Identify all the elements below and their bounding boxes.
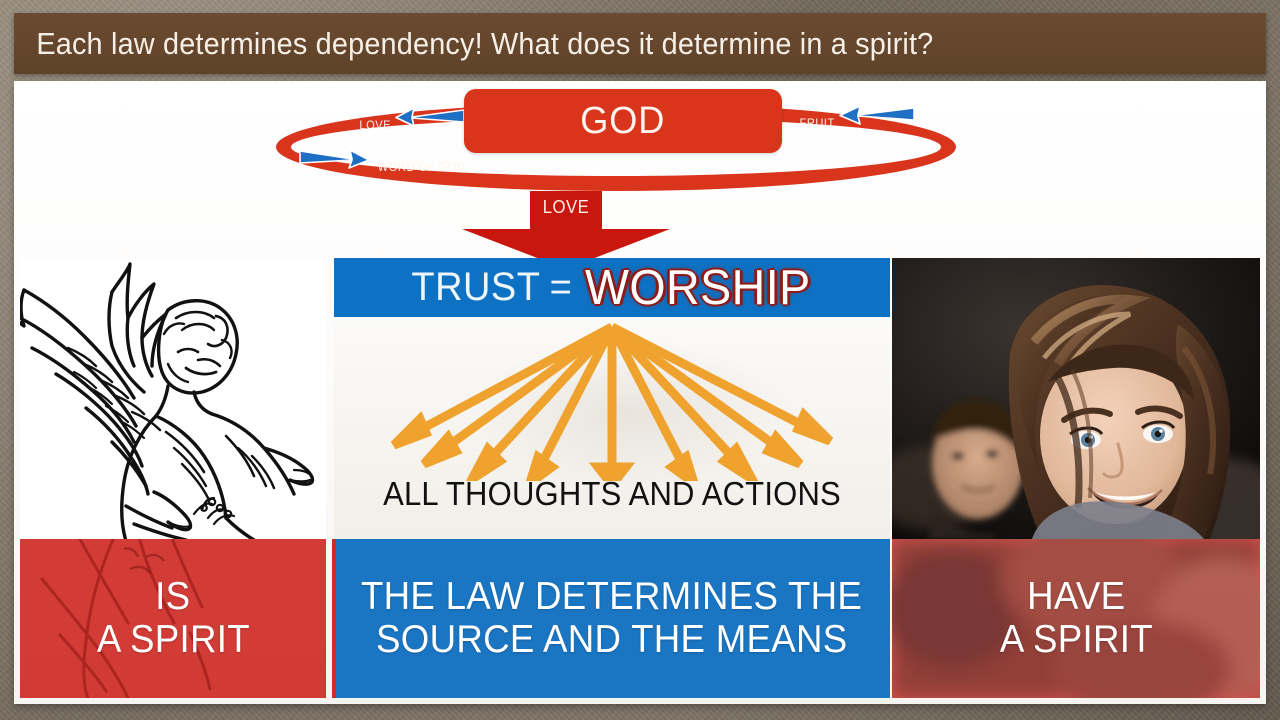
arrow-left-icon-fruit: [836, 103, 916, 127]
angel-line-drawing-icon: [20, 258, 326, 539]
bottom-left-caption: IS A SPIRIT: [20, 539, 326, 698]
arrow-right-icon-word-of-god: [297, 146, 373, 172]
arrow-left-icon-love: [392, 105, 466, 129]
thoughts-actions-label: ALL THOUGHTS AND ACTIONS: [351, 475, 874, 513]
page-title: Each law determines dependency! What doe…: [14, 26, 933, 62]
slide-title-bar: Each law determines dependency! What doe…: [14, 13, 1266, 74]
love-down-arrow-icon: LOVE: [462, 191, 670, 267]
bottom-right-line1: HAVE: [1027, 576, 1125, 618]
photo-panel: [892, 258, 1260, 539]
slide-body: LOVE WORD OF GOD FRUIT GOD LOVE: [14, 81, 1266, 704]
trust-label: TRUST: [411, 265, 540, 310]
slide-canvas: Each law determines dependency! What doe…: [0, 0, 1280, 720]
god-box: GOD: [464, 89, 782, 153]
worship-label: WORSHIP: [585, 260, 811, 316]
god-label: GOD: [580, 100, 665, 143]
god-ring-diagram: LOVE WORD OF GOD FRUIT GOD: [264, 89, 964, 204]
love-arrow-label: LOVE: [469, 197, 662, 218]
smiling-girl-photo-icon: [892, 258, 1260, 539]
column-divider: [332, 539, 336, 698]
ring-label-fruit: FRUIT: [800, 116, 835, 130]
bottom-right-line2: A SPIRIT: [999, 619, 1152, 661]
bottom-middle-caption: THE LAW DETERMINES THE SOURCE AND THE ME…: [334, 539, 890, 698]
ring-label-word-of-god: WORD OF GOD: [378, 160, 466, 174]
bottom-left-line1: IS: [155, 576, 190, 618]
angel-image-panel: [20, 258, 326, 539]
equals-sign: =: [550, 265, 572, 310]
bottom-left-line2: A SPIRIT: [96, 619, 249, 661]
bottom-right-caption: HAVE A SPIRIT: [892, 539, 1260, 698]
bottom-middle-line2: SOURCE AND THE MEANS: [376, 619, 847, 661]
ring-label-love: LOVE: [359, 118, 391, 132]
trust-worship-banner: TRUST = WORSHIP: [334, 258, 890, 317]
radiating-arrows-icon: [372, 321, 852, 481]
bottom-middle-line1: THE LAW DETERMINES THE: [361, 576, 862, 618]
thoughts-actions-panel: ALL THOUGHTS AND ACTIONS: [334, 317, 890, 539]
